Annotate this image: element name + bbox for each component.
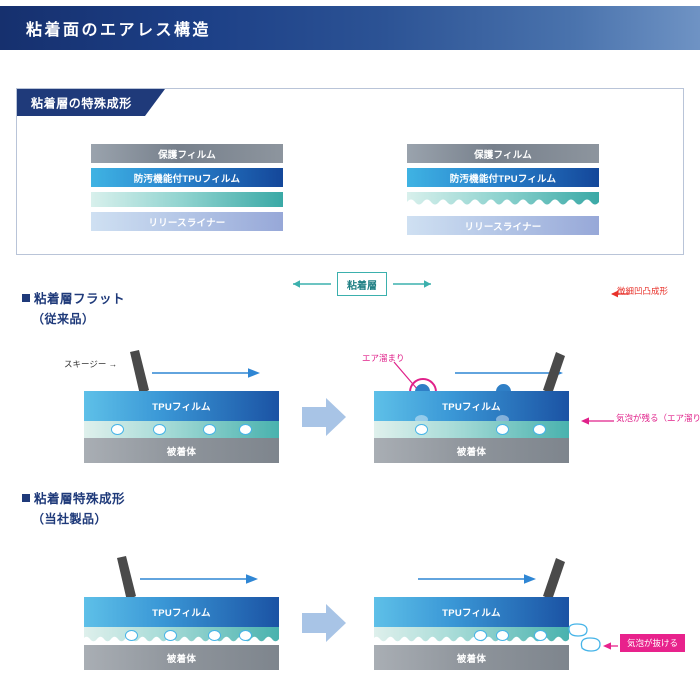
air-bubble bbox=[111, 424, 124, 435]
air-bubble bbox=[208, 630, 221, 641]
air-bubble bbox=[496, 424, 509, 435]
band-tpu-film-label: TPUフィルム bbox=[152, 605, 211, 619]
bubbles-remain-note: 気泡が残る（エア溜り） bbox=[616, 412, 700, 424]
adhesive-structure-panel: 粘着層の特殊成形 保護フィルム 防汚機能付TPUフィルム リリースライナー 保護… bbox=[16, 88, 684, 255]
air-bubble bbox=[164, 630, 177, 641]
air-bubble bbox=[474, 630, 487, 641]
layer-release-liner-label: リリースライナー bbox=[149, 215, 226, 229]
layer-tpu-film: 防汚機能付TPUフィルム bbox=[407, 168, 599, 187]
air-bubble bbox=[496, 630, 509, 641]
band-adherend-label: 被着体 bbox=[457, 651, 486, 665]
layer-release-liner-label: リリースライナー bbox=[465, 219, 542, 233]
bubbles-remain-arrow bbox=[574, 415, 616, 427]
air-bubble bbox=[415, 424, 428, 435]
air-bubble bbox=[125, 630, 138, 641]
panel-tab: 粘着層の特殊成形 bbox=[17, 89, 165, 116]
panel-tab-label: 粘着層の特殊成形 bbox=[31, 94, 132, 111]
layer-protect-film: 保護フィルム bbox=[407, 144, 599, 163]
section-flat-heading-text: 粘着層フラット bbox=[34, 292, 125, 306]
flow-arrow-right bbox=[140, 572, 260, 586]
layer-adhesive-flat bbox=[91, 192, 283, 207]
bubbles-escape-arrow bbox=[598, 640, 620, 652]
band-adherend-label: 被着体 bbox=[167, 444, 196, 458]
band-adherend: 被着体 bbox=[374, 645, 569, 670]
process-arrow-flat bbox=[300, 396, 348, 438]
air-bubble bbox=[153, 424, 166, 435]
bullet-square-icon bbox=[22, 294, 30, 302]
layer-release-liner: リリースライナー bbox=[91, 212, 283, 231]
adhesive-layer-callout: 粘着層 bbox=[337, 272, 387, 296]
section-textured-heading-text: 粘着層特殊成形 bbox=[34, 492, 125, 506]
layer-adhesive-textured bbox=[407, 192, 599, 211]
band-tpu-film: TPUフィルム bbox=[84, 597, 279, 627]
band-tpu-film-label: TPUフィルム bbox=[152, 399, 211, 413]
layer-stack-flat: 保護フィルム 防汚機能付TPUフィルム リリースライナー bbox=[91, 144, 283, 236]
band-adherend-label: 被着体 bbox=[457, 444, 486, 458]
wavy-adhesive-shape bbox=[407, 192, 599, 211]
layer-tpu-film: 防汚機能付TPUフィルム bbox=[91, 168, 283, 187]
layer-tpu-film-label: 防汚機能付TPUフィルム bbox=[450, 171, 557, 185]
band-adherend: 被着体 bbox=[84, 645, 279, 670]
flow-arrow-right bbox=[152, 366, 262, 380]
section-flat-subheading: （従来品） bbox=[32, 310, 95, 327]
air-bubble bbox=[203, 424, 216, 435]
air-bubble bbox=[533, 424, 546, 435]
layer-protect-film-label: 保護フィルム bbox=[158, 147, 216, 161]
layer-release-liner: リリースライナー bbox=[407, 216, 599, 235]
section-textured-subheading: （当社製品） bbox=[32, 510, 107, 527]
band-tpu-film-label: TPUフィルム bbox=[442, 605, 501, 619]
air-bubble bbox=[239, 630, 252, 641]
adhesive-layer-callout-label: 粘着層 bbox=[347, 277, 377, 292]
layer-protect-film-label: 保護フィルム bbox=[474, 147, 532, 161]
layer-stack-textured: 保護フィルム 防汚機能付TPUフィルム リリースライナー bbox=[407, 144, 599, 240]
arrow-left-to-flat-stack bbox=[285, 277, 333, 291]
process-arrow-textured bbox=[300, 602, 348, 644]
arrow-right-to-textured-stack bbox=[391, 277, 439, 291]
layer-tpu-film-label: 防汚機能付TPUフィルム bbox=[134, 171, 241, 185]
micro-texture-note: 微細凹凸成形 bbox=[617, 285, 668, 297]
bullet-square-icon bbox=[22, 494, 30, 502]
band-tpu-film: TPUフィルム bbox=[84, 391, 279, 421]
flow-arrow-right bbox=[418, 572, 538, 586]
bubbles-escape-note: 気泡が抜ける bbox=[620, 634, 685, 652]
band-tpu-film-label: TPUフィルム bbox=[442, 399, 501, 413]
air-bubble bbox=[239, 424, 252, 435]
band-adherend: 被着体 bbox=[374, 438, 569, 463]
squeegee-label: スキージー → bbox=[64, 358, 117, 370]
section-flat-heading: 粘着層フラット bbox=[22, 288, 125, 307]
page-title: 粘着面のエアレス構造 bbox=[26, 16, 211, 40]
band-adherend: 被着体 bbox=[84, 438, 279, 463]
page-root: 粘着面のエアレス構造 粘着層の特殊成形 保護フィルム 防汚機能付TPUフィルム … bbox=[0, 0, 700, 700]
band-adherend-label: 被着体 bbox=[167, 651, 196, 665]
section-textured-heading: 粘着層特殊成形 bbox=[22, 488, 125, 507]
band-tpu-film: TPUフィルム bbox=[374, 597, 569, 627]
air-bubble bbox=[534, 630, 547, 641]
band-tpu-film: TPUフィルム bbox=[374, 391, 569, 421]
layer-protect-film: 保護フィルム bbox=[91, 144, 283, 163]
page-header: 粘着面のエアレス構造 bbox=[0, 6, 700, 50]
